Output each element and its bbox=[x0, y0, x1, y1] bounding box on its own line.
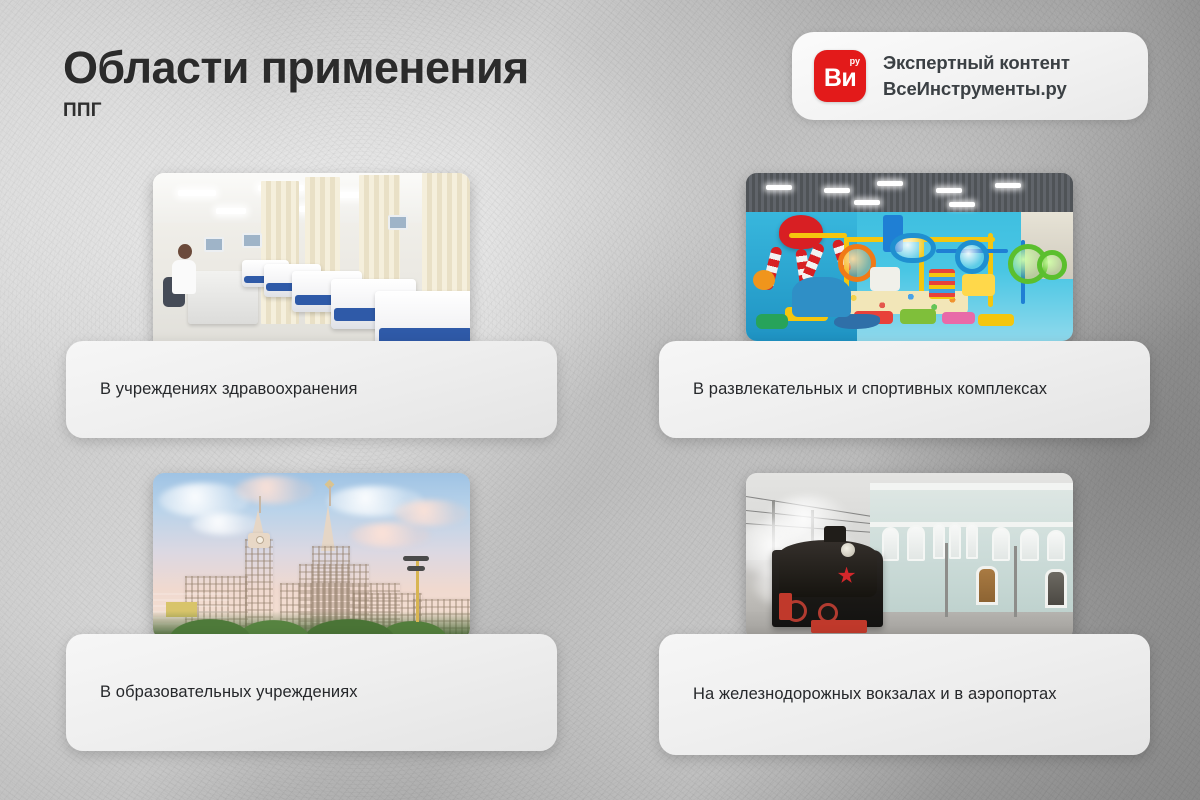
caption-text-transport: На железнодорожных вокзалах и в аэропорт… bbox=[659, 681, 1091, 708]
caption-text-healthcare: В учреждениях здравоохранения bbox=[66, 376, 392, 403]
page-title: Области применения bbox=[63, 44, 529, 93]
badge-text-block: Экспертный контент ВсеИнструменты.ру bbox=[883, 52, 1070, 100]
caption-card-education[interactable]: В образовательных учреждениях bbox=[66, 634, 557, 751]
logo-letters: Ви bbox=[824, 66, 856, 91]
slide-header: Области применения ППГ bbox=[63, 44, 529, 122]
university-scene bbox=[153, 473, 470, 639]
railway-station-photo bbox=[746, 473, 1073, 640]
caption-card-entertainment[interactable]: В развлекательных и спортивных комплекса… bbox=[659, 341, 1150, 438]
station-building bbox=[870, 483, 1073, 613]
caption-text-entertainment: В развлекательных и спортивных комплекса… bbox=[659, 376, 1081, 403]
caption-card-healthcare[interactable]: В учреждениях здравоохранения bbox=[66, 341, 557, 438]
university-building-photo bbox=[153, 473, 470, 639]
caption-text-education: В образовательных учреждениях bbox=[66, 679, 392, 706]
railway-scene bbox=[746, 473, 1073, 640]
page-subtitle: ППГ bbox=[63, 100, 529, 122]
badge-line-2: ВсеИнструменты.ру bbox=[883, 78, 1070, 100]
playground-scene bbox=[746, 173, 1073, 341]
hospital-scene bbox=[153, 173, 470, 366]
brand-badge[interactable]: Ви ру Экспертный контент ВсеИнструменты.… bbox=[792, 32, 1148, 120]
indoor-playground-photo bbox=[746, 173, 1073, 341]
hospital-ward-photo bbox=[153, 173, 470, 366]
badge-line-1: Экспертный контент bbox=[883, 52, 1070, 74]
logo-superscript: ру bbox=[850, 57, 860, 66]
caption-card-transport[interactable]: На железнодорожных вокзалах и в аэропорт… bbox=[659, 634, 1150, 755]
vseinstrumenty-logo-icon: Ви ру bbox=[814, 50, 866, 102]
slide-canvas: Области применения ППГ Ви ру Экспертный … bbox=[0, 0, 1200, 800]
